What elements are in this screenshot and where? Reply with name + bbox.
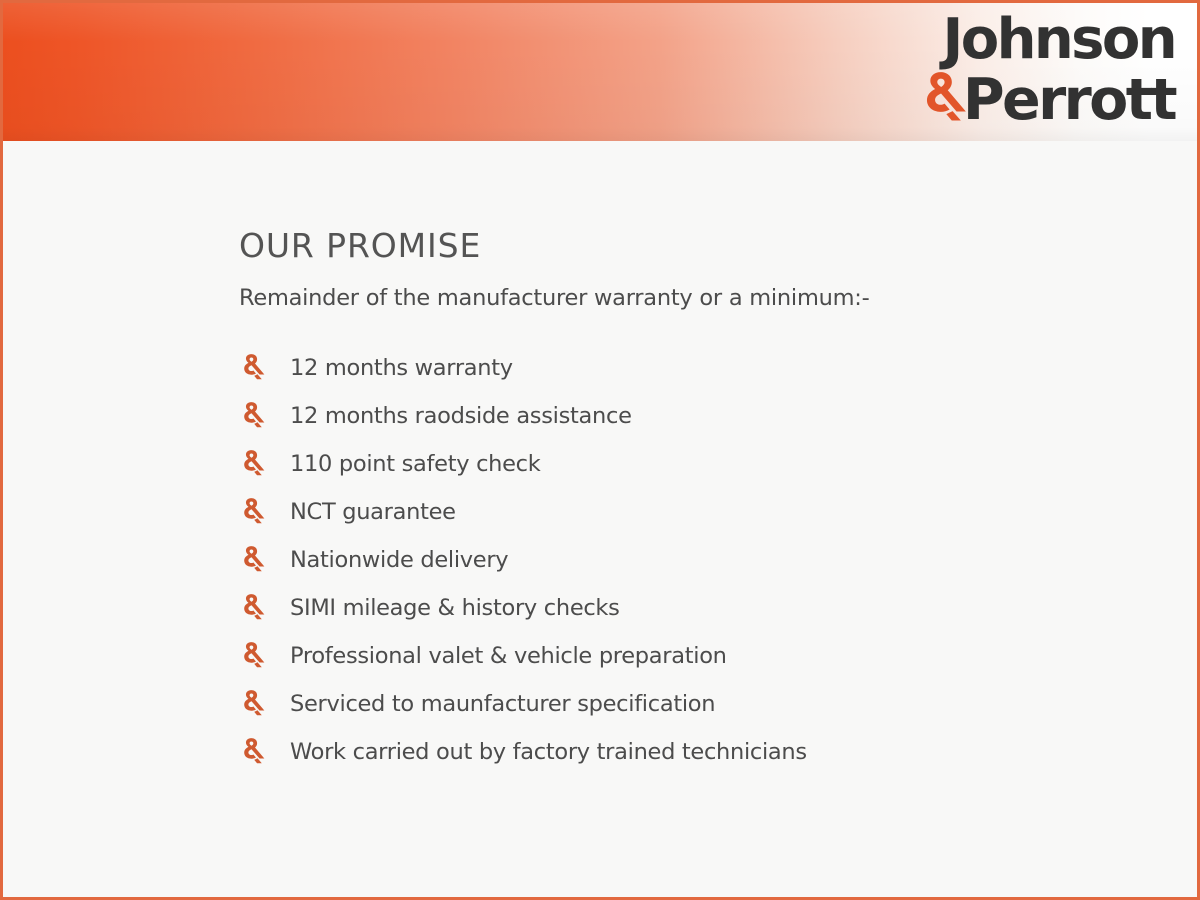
ampersand-bullet-icon [239,401,265,429]
list-item-label: SIMI mileage & history checks [290,597,620,620]
brand-logo-line-perrott: Perrott [918,70,1175,129]
brand-logo-word-perrott: Perrott [963,71,1175,129]
list-item: 12 months warranty [239,344,1139,392]
list-item-label: Work carried out by factory trained tech… [290,741,807,764]
page-canvas: Johnson Perrott OUR PROMISE [3,3,1197,897]
ampersand-icon [918,70,966,124]
list-item: Professional valet & vehicle preparation [239,632,1139,680]
list-item-label: Serviced to maunfacturer specification [290,693,715,716]
promise-subtitle: Remainder of the manufacturer warranty o… [239,286,1139,312]
promise-slide: Johnson Perrott OUR PROMISE [0,0,1200,900]
ampersand-bullet-icon [239,593,265,621]
list-item: 110 point safety check [239,440,1139,488]
ampersand-bullet-icon [239,689,265,717]
ampersand-bullet-icon [239,641,265,669]
list-item: 12 months raodside assistance [239,392,1139,440]
promise-list: 12 months warranty 12 months raodside as… [239,344,1139,776]
list-item-label: 110 point safety check [290,453,540,476]
ampersand-bullet-icon [239,449,265,477]
list-item: Work carried out by factory trained tech… [239,728,1139,776]
list-item: NCT guarantee [239,488,1139,536]
list-item: Nationwide delivery [239,536,1139,584]
ampersand-bullet-icon [239,353,265,381]
page-title: OUR PROMISE [239,229,1139,262]
ampersand-bullet-icon [239,497,265,525]
brand-logo-line-johnson: Johnson [918,11,1175,68]
brand-logo-word-johnson: Johnson [942,11,1175,68]
ampersand-bullet-icon [239,545,265,573]
promise-content: OUR PROMISE Remainder of the manufacture… [239,229,1139,776]
brand-logo: Johnson Perrott [918,11,1175,129]
ampersand-bullet-icon [239,737,265,765]
list-item-label: Professional valet & vehicle preparation [290,645,727,668]
list-item: SIMI mileage & history checks [239,584,1139,632]
list-item: Serviced to maunfacturer specification [239,680,1139,728]
list-item-label: 12 months warranty [290,357,513,380]
list-item-label: Nationwide delivery [290,549,508,572]
header-band: Johnson Perrott [3,3,1197,141]
list-item-label: NCT guarantee [290,501,456,524]
list-item-label: 12 months raodside assistance [290,405,632,428]
